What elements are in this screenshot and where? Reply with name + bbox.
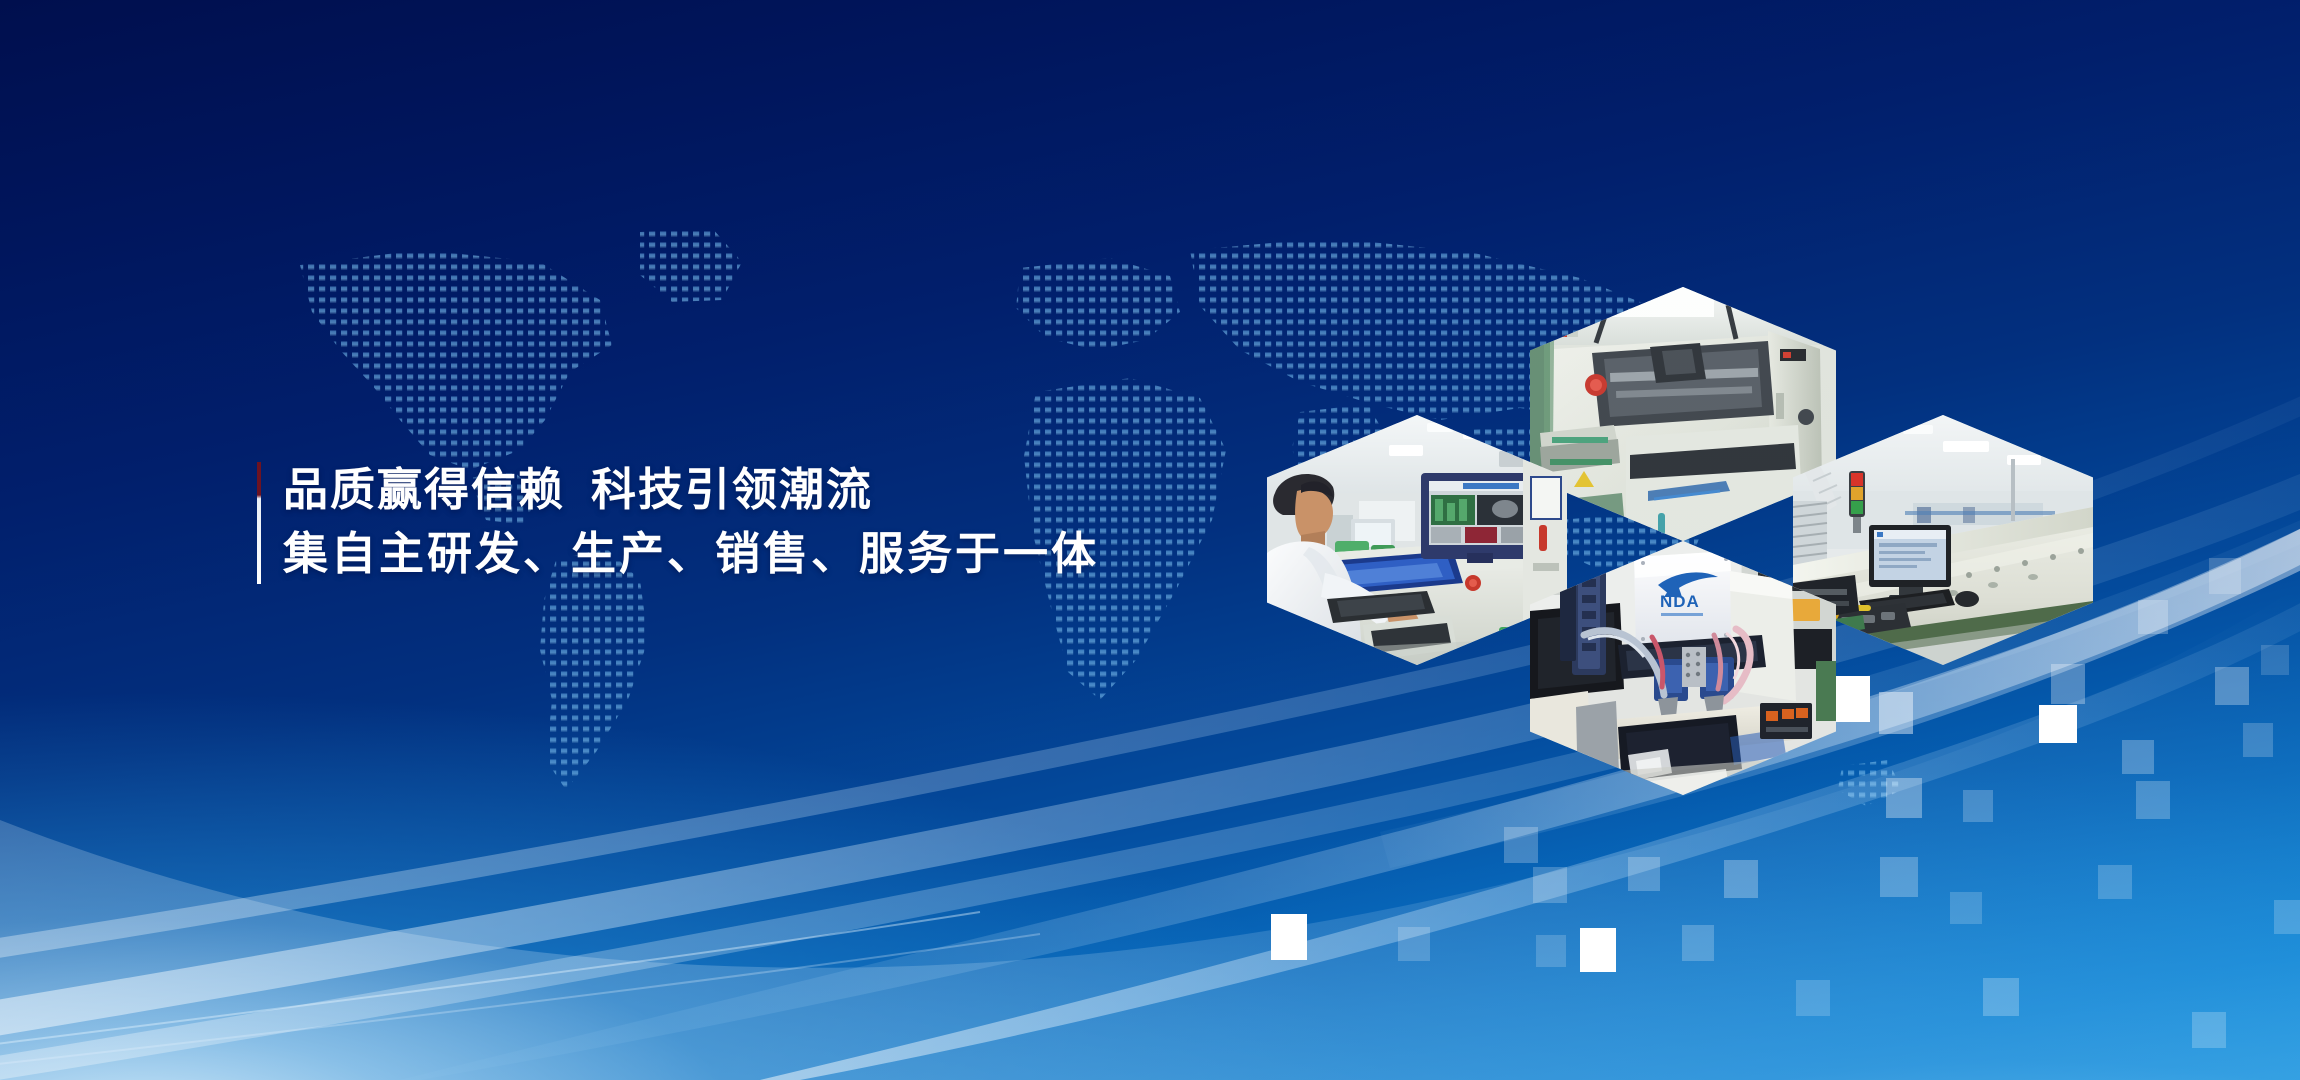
floating-square (2098, 865, 2132, 899)
floating-square (2215, 667, 2249, 705)
floating-square (1724, 860, 1758, 898)
photo-aoi-inspection-operator (1267, 415, 1567, 665)
photo-reflow-oven-workstation (1793, 415, 2093, 665)
floating-square (2138, 600, 2168, 634)
hex-tile-smt-stencil-printer[interactable] (1530, 287, 1836, 541)
floating-square (1796, 980, 1830, 1016)
hex-tile-reflow-oven-workstation[interactable] (1793, 415, 2093, 665)
headline-line-1-part-2: 科技引领潮流 (591, 464, 873, 515)
headline-line-2: 集自主研发、生产、销售、服务于一体 (283, 524, 1099, 584)
hex-tile-anda-dispensing-robot[interactable]: NDA (1530, 541, 1836, 795)
floating-square (1628, 857, 1660, 891)
floating-square (1533, 867, 1567, 903)
floating-square (1880, 857, 1918, 897)
headline-text: 品质赢得信赖科技引领潮流 集自主研发、生产、销售、服务于一体 (283, 462, 1099, 584)
accent-bar (257, 462, 261, 584)
floating-square (2243, 723, 2273, 757)
floating-square (1983, 978, 2019, 1016)
floating-square (2261, 645, 2289, 675)
company-hero-banner: 品质赢得信赖科技引领潮流 集自主研发、生产、销售、服务于一体 (0, 0, 2300, 1080)
photo-smt-stencil-printer (1530, 287, 1836, 541)
floating-square (1271, 914, 1307, 960)
headline-line-1: 品质赢得信赖科技引领潮流 (283, 462, 1099, 518)
headline-block: 品质赢得信赖科技引领潮流 集自主研发、生产、销售、服务于一体 (257, 462, 1099, 584)
floating-square (2274, 900, 2300, 934)
floating-square (1398, 927, 1430, 961)
floating-square (1682, 925, 1714, 961)
hex-tile-aoi-inspection-operator[interactable] (1267, 415, 1567, 665)
floating-square (1536, 935, 1566, 967)
floating-square (2192, 1012, 2226, 1048)
floating-square (2209, 558, 2241, 594)
headline-line-1-part-1: 品质赢得信赖 (283, 464, 565, 515)
floating-square (1950, 892, 1982, 924)
floating-square (1580, 928, 1616, 972)
svg-text:NDA: NDA (1660, 592, 1700, 611)
floating-square (1504, 827, 1538, 863)
hexagon-photo-cluster: NDA (1255, 275, 2135, 795)
floating-square (2136, 781, 2170, 819)
photo-anda-dispensing-robot: NDA (1530, 541, 1836, 795)
